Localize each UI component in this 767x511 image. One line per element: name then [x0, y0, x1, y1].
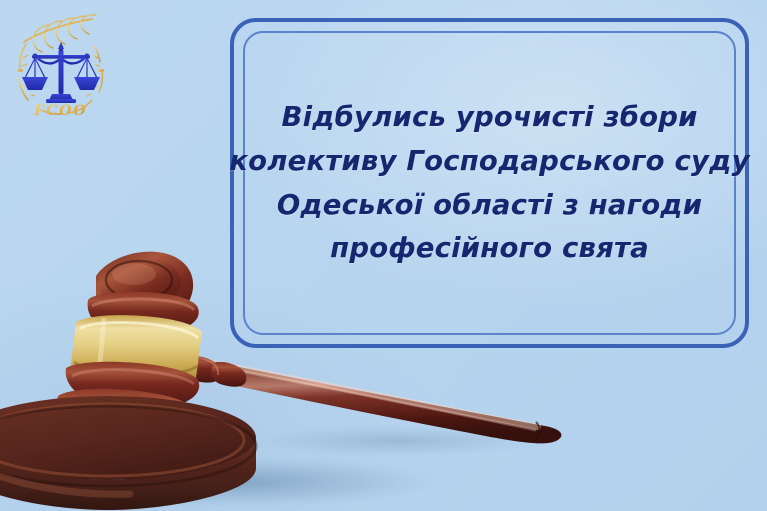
emblem-abbreviation-text: ГСОО	[33, 103, 87, 119]
scales-of-justice	[22, 42, 100, 103]
headline-line-2: колективу Господарського суду	[229, 146, 749, 177]
poster-canvas: ГСОО Відбулись урочисті збори колективу …	[0, 0, 767, 511]
gavel-sound-block	[0, 396, 256, 510]
headline-line-3: Одеської області з нагоди	[277, 190, 702, 221]
headline-line-1: Відбулись урочисті збори	[281, 102, 697, 133]
court-emblem: ГСОО	[6, 8, 116, 120]
judge-gavel	[0, 236, 600, 511]
